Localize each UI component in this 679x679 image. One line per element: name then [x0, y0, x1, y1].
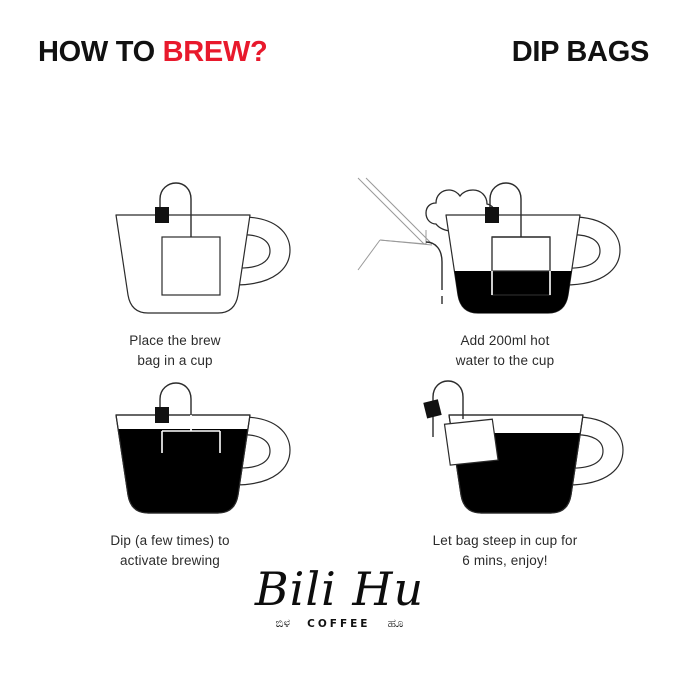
step-2-caption-line-1: Add 200ml hot: [340, 331, 670, 351]
step-4: Let bag steep in cup for 6 mins, enjoy!: [340, 375, 670, 570]
teabag-clip: [423, 399, 441, 418]
kettle-pouring-into-cup-with-steam-icon: [340, 175, 670, 325]
brand-wordmark: Bili Hu: [0, 565, 679, 613]
page-title-how-to-brew: HOW TO BREW?: [38, 36, 267, 69]
cup-with-dry-teabag-icon: [10, 175, 340, 325]
step-1-caption: Place the brew bag in a cup: [10, 331, 340, 370]
step-1-caption-line-1: Place the brew: [10, 331, 340, 351]
step-2-caption: Add 200ml hot water to the cup: [340, 331, 670, 370]
step-4-caption-line-1: Let bag steep in cup for: [340, 531, 670, 551]
brand-tagline-coffee: COFFEE: [307, 618, 370, 630]
teabag-clip: [485, 207, 499, 223]
teabag-clip: [155, 207, 169, 223]
header: HOW TO BREW? DIP BAGS: [0, 36, 679, 76]
teabag-pouch: [162, 237, 220, 295]
teabag-clip: [155, 407, 169, 423]
brand-tagline-kannada-left: ಬಿಳ: [275, 616, 290, 630]
brand-logo: Bili Hu ಬಿಳ COFFEE ಹೂ: [0, 565, 679, 631]
cup-full-dipping-teabag-icon: [5, 375, 335, 525]
step-2-caption-line-2: water to the cup: [340, 351, 670, 371]
page-title-highlight: BREW?: [163, 36, 268, 68]
step-3: Dip (a few times) to activate brewing: [5, 375, 335, 570]
page-title-plain: HOW TO: [38, 36, 163, 68]
page-title-dip-bags: DIP BAGS: [512, 36, 649, 69]
brand-tagline: ಬಿಳ COFFEE ಹೂ: [0, 616, 679, 631]
liquid-fill: [440, 271, 590, 331]
brand-tagline-kannada-right: ಹೂ: [388, 616, 404, 630]
step-3-caption-line-1: Dip (a few times) to: [5, 531, 335, 551]
step-3-illustration: [5, 375, 335, 525]
step-2-illustration: [340, 175, 670, 325]
step-2: Add 200ml hot water to the cup: [340, 175, 670, 370]
step-4-illustration: [340, 375, 670, 525]
cup-full-teabag-resting-on-rim-icon: [340, 375, 670, 525]
liquid-fill: [110, 429, 265, 524]
brew-instructions-page: HOW TO BREW? DIP BAGS Place the br: [0, 0, 679, 679]
step-1-caption-line-2: bag in a cup: [10, 351, 340, 371]
step-1-illustration: [10, 175, 340, 325]
step-1: Place the brew bag in a cup: [10, 175, 340, 370]
